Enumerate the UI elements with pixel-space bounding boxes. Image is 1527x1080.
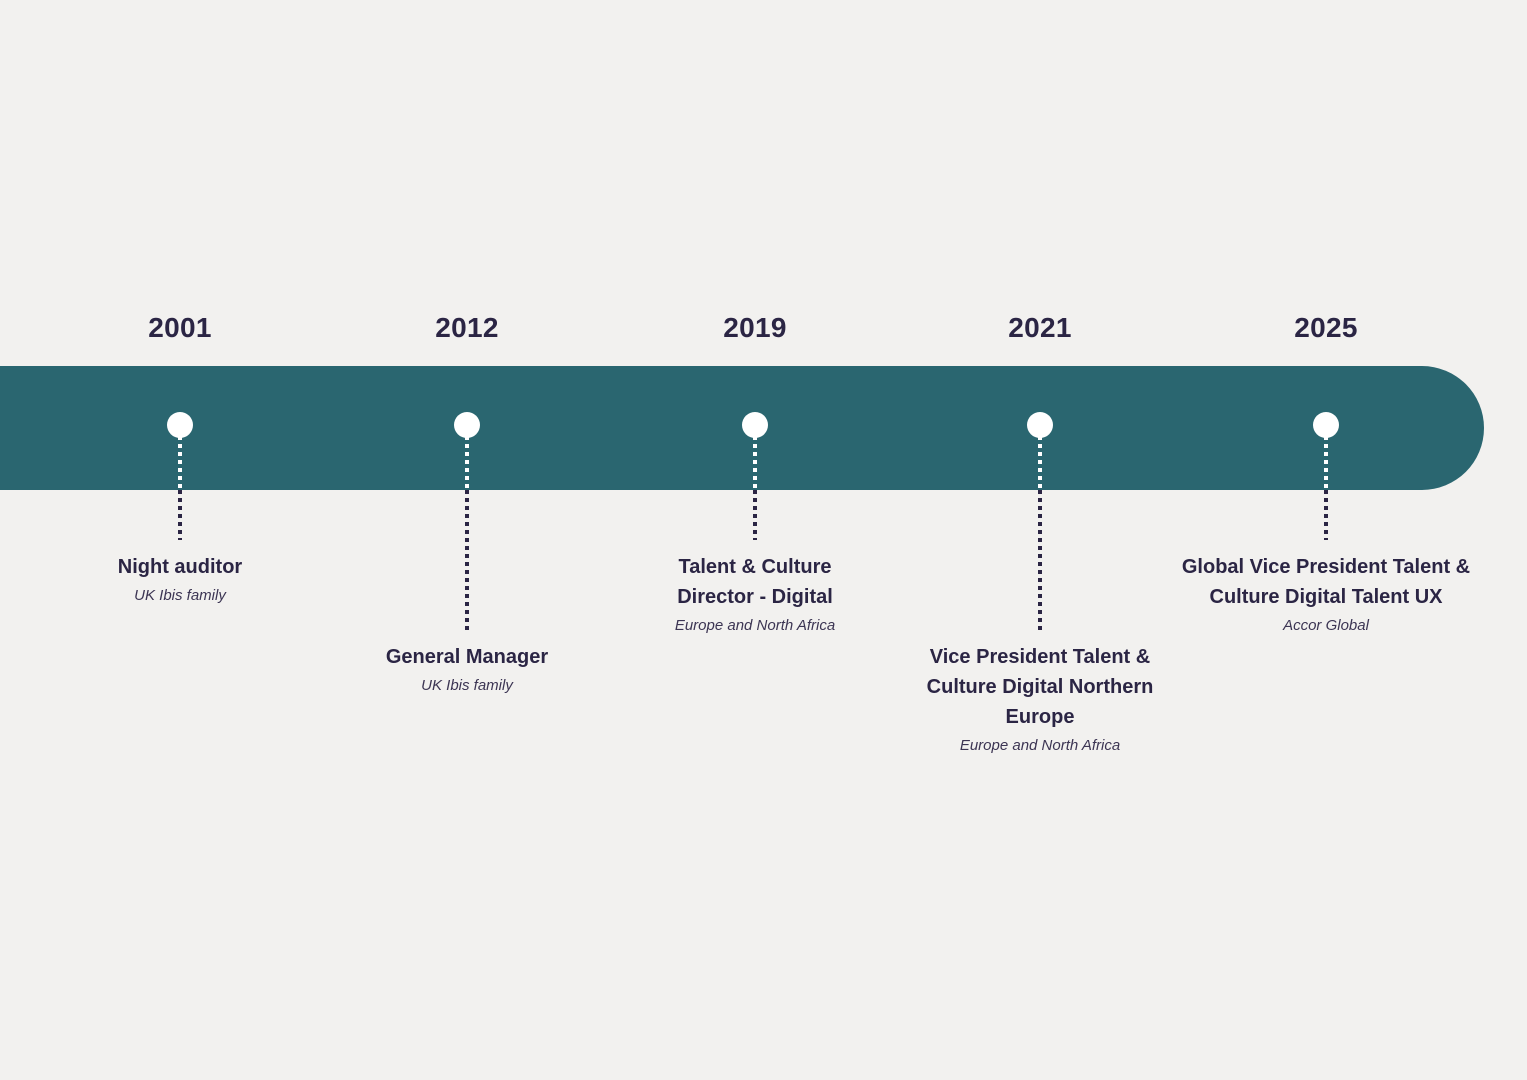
milestone-connector-outer — [1324, 490, 1328, 540]
milestone-role-title: Vice President Talent & Culture Digital … — [900, 642, 1180, 732]
milestone-year-label: 2021 — [930, 311, 1150, 345]
milestone-scope-text: Europe and North Africa — [650, 612, 860, 640]
milestone-role-title: Night auditor — [70, 552, 290, 582]
milestone-connector-inner — [1038, 436, 1042, 490]
milestone-year-label: 2019 — [645, 311, 865, 345]
milestone-connector-outer — [1038, 490, 1042, 630]
milestone-connector-outer — [465, 490, 469, 630]
milestone-label-block: Global Vice President Talent & Culture D… — [1164, 552, 1488, 640]
milestone-role-title: General Manager — [347, 642, 587, 672]
milestone-year-label: 2001 — [70, 311, 290, 345]
milestone-dot-marker[interactable] — [454, 412, 480, 438]
milestone-connector-outer — [178, 490, 182, 540]
milestone-dot-marker[interactable] — [167, 412, 193, 438]
milestone-dot-marker[interactable] — [742, 412, 768, 438]
milestone-connector-outer — [753, 490, 757, 540]
milestone-scope-text: UK Ibis family — [70, 582, 290, 610]
milestone-connector-inner — [465, 436, 469, 490]
milestone-label-block: Night auditor UK Ibis family — [70, 552, 290, 610]
milestone-scope-text: Europe and North Africa — [900, 732, 1180, 760]
milestone-connector-inner — [1324, 436, 1328, 490]
milestone-role-title: Global Vice President Talent & Culture D… — [1164, 552, 1488, 612]
milestone-year-label: 2012 — [357, 311, 577, 345]
milestone-year-label: 2025 — [1216, 311, 1436, 345]
milestone-scope-text: UK Ibis family — [347, 672, 587, 700]
career-timeline: 2001 Night auditor UK Ibis family 2012 G… — [0, 0, 1527, 1080]
milestone-connector-inner — [753, 436, 757, 490]
milestone-scope-text: Accor Global — [1164, 612, 1488, 640]
milestone-dot-marker[interactable] — [1313, 412, 1339, 438]
milestone-label-block: Vice President Talent & Culture Digital … — [900, 642, 1180, 760]
milestone-label-block: General Manager UK Ibis family — [347, 642, 587, 700]
milestone-label-block: Talent & Culture Director - Digital Euro… — [650, 552, 860, 640]
milestone-connector-inner — [178, 436, 182, 490]
milestone-dot-marker[interactable] — [1027, 412, 1053, 438]
milestone-role-title: Talent & Culture Director - Digital — [650, 552, 860, 612]
